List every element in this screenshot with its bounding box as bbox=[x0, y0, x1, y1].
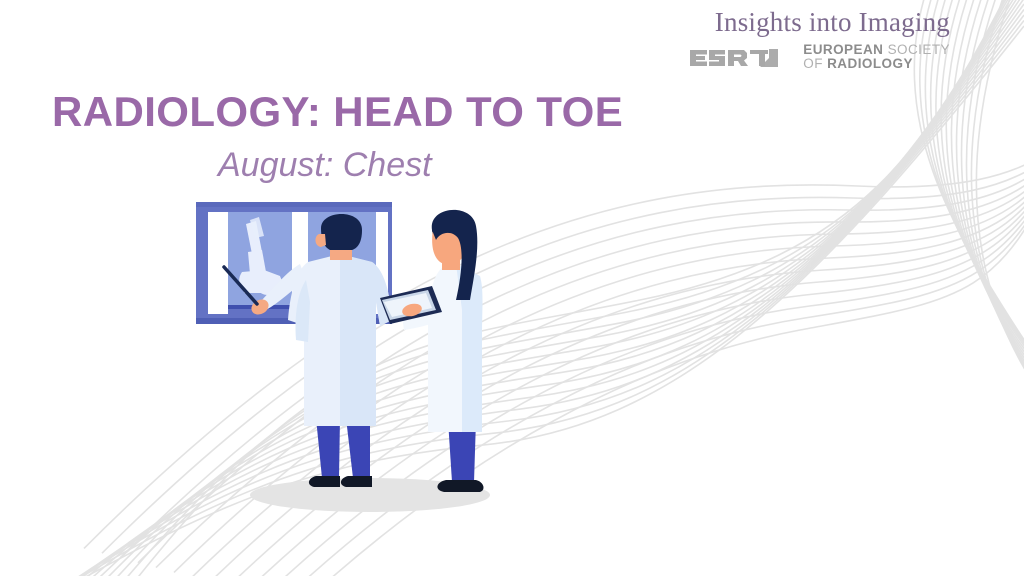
esr-logo-lockup: EUROPEAN SOCIETY OF RADIOLOGY bbox=[630, 43, 950, 72]
society-radiology: RADIOLOGY bbox=[827, 56, 913, 71]
society-of: OF bbox=[803, 56, 823, 71]
society-society: SOCIETY bbox=[888, 42, 950, 57]
society-european: EUROPEAN bbox=[803, 42, 883, 57]
female-radiologist-with-tablet bbox=[380, 210, 483, 492]
esr-logo-icon bbox=[690, 44, 794, 71]
page-subtitle: August: Chest bbox=[218, 146, 432, 185]
journal-title: Insights into Imaging bbox=[630, 8, 950, 38]
two-radiologists-illustration bbox=[180, 190, 560, 520]
esr-society-text: EUROPEAN SOCIETY OF RADIOLOGY bbox=[803, 43, 950, 72]
brand-lockup: Insights into Imaging EUROPEAN bbox=[630, 8, 950, 72]
page-title: RADIOLOGY: HEAD TO TOE bbox=[52, 88, 623, 136]
slide-canvas: Insights into Imaging EUROPEAN bbox=[0, 0, 1024, 576]
